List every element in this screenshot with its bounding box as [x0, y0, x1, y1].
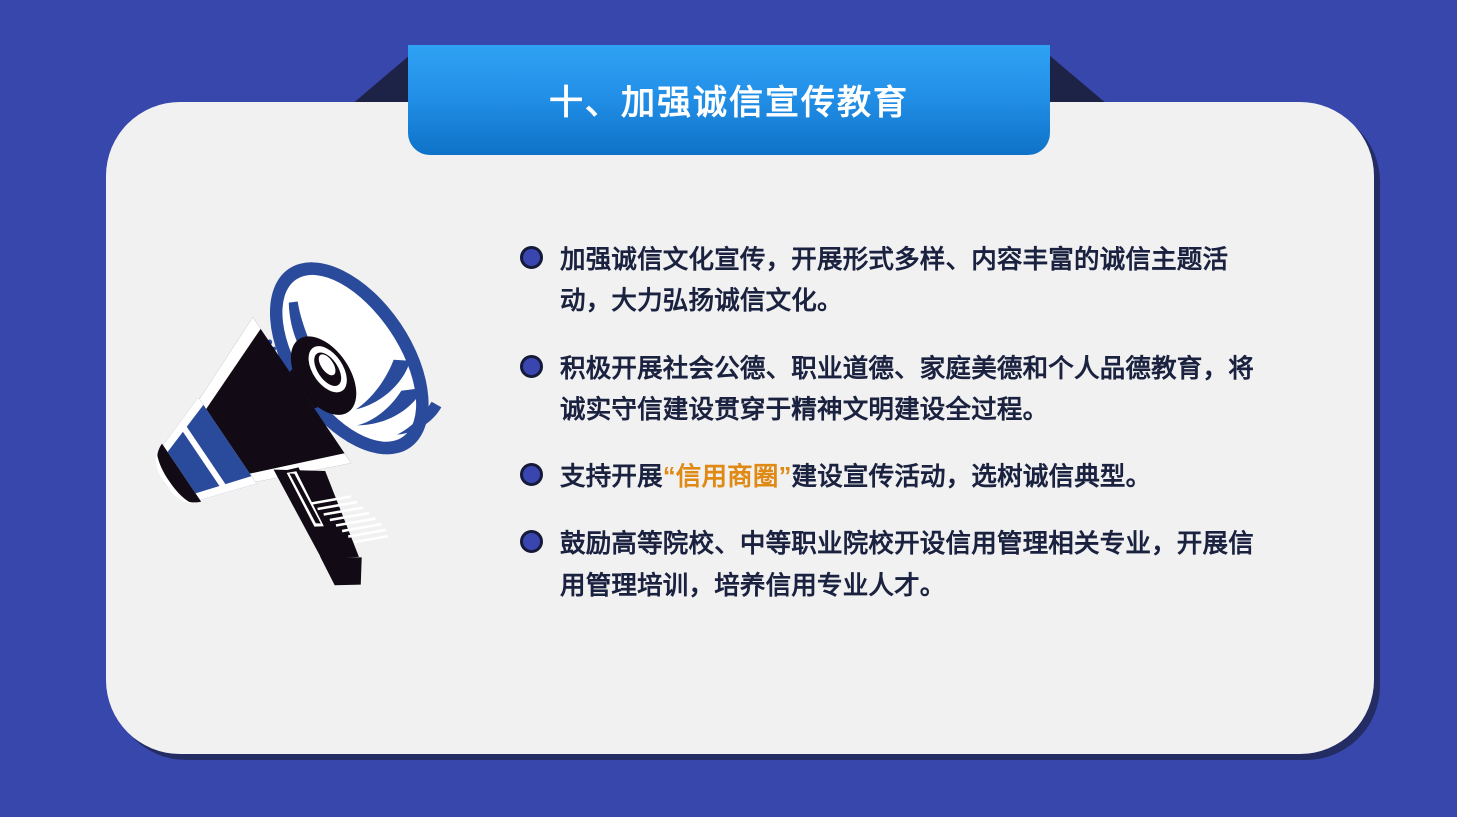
list-item: 积极开展社会公德、职业道德、家庭美德和个人品德教育，将诚实守信建设贯穿于精神文明… [520, 349, 1260, 432]
list-item: 鼓励高等院校、中等职业院校开设信用管理相关专业，开展信用管理培训，培养信用专业人… [520, 524, 1260, 607]
bullet-marker-icon [520, 246, 543, 269]
bullet-text-3-before: 支持开展 [560, 463, 663, 491]
bullet-text-4: 鼓励高等院校、中等职业院校开设信用管理相关专业，开展信用管理培训，培养信用专业人… [560, 524, 1260, 607]
bullet-text-1-before: 加强诚信文化宣传，开展形式多样、内容丰富的诚信主题活动，大力弘扬诚信文化。 [560, 246, 1228, 315]
bullet-text-1: 加强诚信文化宣传，开展形式多样、内容丰富的诚信主题活动，大力弘扬诚信文化。 [560, 240, 1260, 323]
page-title: 十、加强诚信宣传教育 [549, 86, 909, 120]
bullet-text-3-after: 建设宣传活动，选树诚信典型。 [792, 463, 1152, 491]
title-banner: 十、加强诚信宣传教育 [408, 45, 1050, 155]
list-item: 支持开展“信用商圈”建设宣传活动，选树诚信典型。 [520, 457, 1260, 498]
bullet-text-4-before: 鼓励高等院校、中等职业院校开设信用管理相关专业，开展信用管理培训，培养信用专业人… [560, 530, 1254, 599]
bullet-list: 加强诚信文化宣传，开展形式多样、内容丰富的诚信主题活动，大力弘扬诚信文化。 积极… [520, 240, 1260, 607]
bullet-text-3-highlight: “信用商圈” [663, 463, 792, 491]
megaphone-illustration [145, 235, 505, 635]
bullet-marker-icon [520, 463, 543, 486]
bullet-marker-icon [520, 530, 543, 553]
bullet-text-2: 积极开展社会公德、职业道德、家庭美德和个人品德教育，将诚实守信建设贯穿于精神文明… [560, 349, 1260, 432]
list-item: 加强诚信文化宣传，开展形式多样、内容丰富的诚信主题活动，大力弘扬诚信文化。 [520, 240, 1260, 323]
megaphone-icon [145, 235, 505, 635]
bullet-text-3: 支持开展“信用商圈”建设宣传活动，选树诚信典型。 [560, 457, 1260, 498]
bullet-text-2-before: 积极开展社会公德、职业道德、家庭美德和个人品德教育，将诚实守信建设贯穿于精神文明… [560, 355, 1254, 424]
slide-root: 十、加强诚信宣传教育 [0, 0, 1457, 817]
bullet-marker-icon [520, 355, 543, 378]
